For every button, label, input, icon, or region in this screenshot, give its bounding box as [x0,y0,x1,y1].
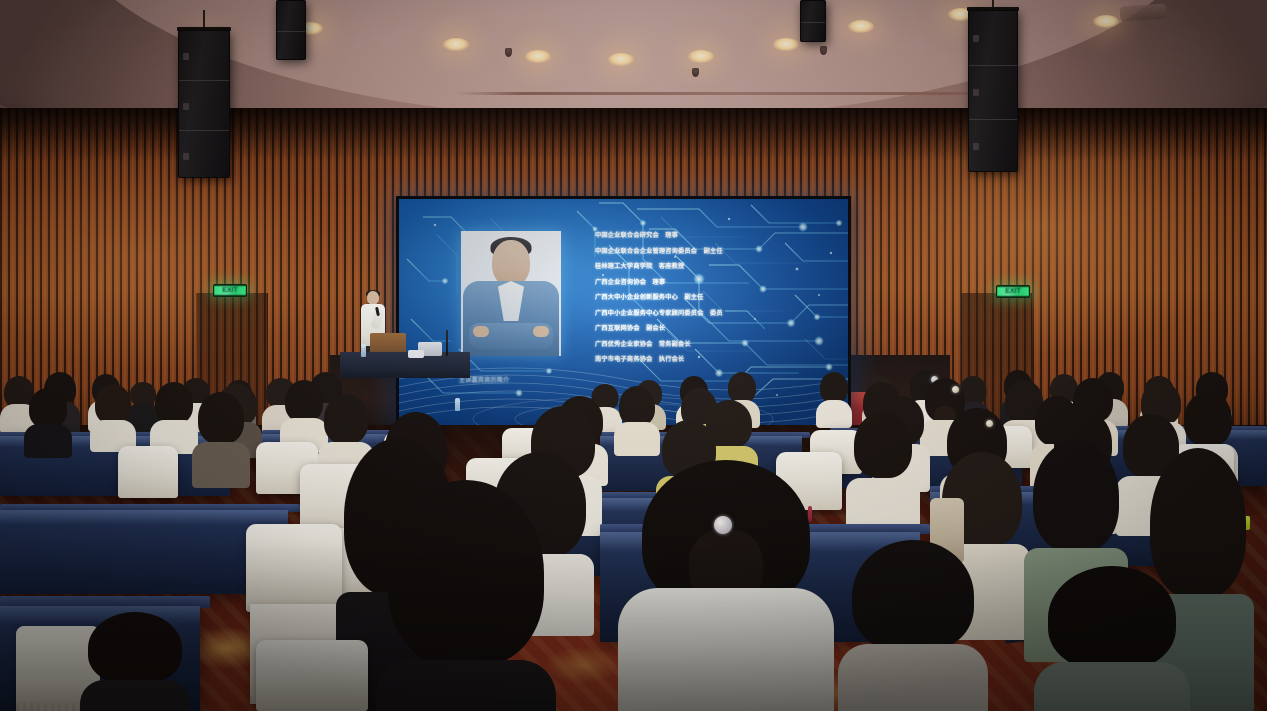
speaker-cabinet [276,0,306,60]
person-hair [95,384,131,424]
credential-line: 广西大中小企业创新服务中心 副主任 [595,293,845,303]
speaker-cabinet [178,30,230,178]
presenter-head [367,291,379,305]
microphone-stand-icon [446,330,448,356]
speaker-driver-icon [183,103,189,110]
person-torso [838,644,988,711]
person-torso [618,588,834,711]
speaker-seam [801,22,825,23]
exit-sign-label-left: EXIT [214,286,246,295]
person-torso [1034,662,1190,711]
person-hair [324,394,368,444]
person-torso [376,660,556,711]
person-hair [852,540,974,652]
person-hair [728,372,756,403]
credential-list: 中国企业联合会研究会 理事 中国企业联合会企业管理咨询委员会 副主任 桂林理工大… [595,231,845,371]
hair-clip-icon [986,420,993,427]
credential-org: 广西优秀企业家协会 [595,341,653,348]
speaker-seam [179,80,229,81]
credential-line: 桂林理工大学商学院 客座教授 [595,262,845,272]
audience-person-foreground [618,460,834,711]
audience-person [614,386,660,456]
hair-clip-icon [952,386,959,393]
audience-person-foreground [838,540,988,711]
credential-org: 桂林理工大学商学院 [595,263,653,270]
credential-line: 广西中小企业服务中心专家顾问委员会 委员 [595,309,845,319]
portrait-hand [473,326,489,337]
speaker-portrait-photo [461,231,561,356]
ceiling-downlight [443,38,469,51]
credential-role: 副会长 [646,325,665,332]
person-hair [854,412,912,478]
credential-role: 副主任 [704,248,723,255]
credential-org: 中国企业联合会企业管理咨询委员会 [595,248,697,255]
sprinkler-icon [692,68,699,77]
navy-table [0,510,288,594]
line-array-speaker-right-inner [800,0,826,42]
credential-role: 理事 [665,232,678,239]
portrait-hand [533,326,549,337]
speaker-cabinet [800,0,826,42]
banquet-chair[interactable] [246,524,342,612]
banquet-chair[interactable] [256,640,368,711]
document-stack [408,350,424,358]
exit-sign-right: EXIT [996,285,1030,298]
credential-role: 执行会长 [659,356,685,363]
person-hair [388,480,544,666]
audience-person [24,388,72,456]
credential-org: 广西中小企业服务中心专家顾问委员会 [595,310,704,317]
ceiling-downlight [773,38,799,51]
conference-hall-photo: EXIT EXIT [0,0,1267,711]
person-torso [24,424,72,458]
person-hair [619,386,655,426]
line-array-speaker-left-outer [178,10,230,178]
exit-sign-label-right: EXIT [997,287,1029,296]
portrait-head [492,240,530,286]
ceiling-downlight [688,50,714,63]
water-bottle-icon [455,398,460,411]
credential-org: 中国企业联合会研究会 [595,232,659,239]
person-torso [614,422,660,456]
person-torso [80,680,190,711]
banquet-chair[interactable] [118,446,178,498]
sprinkler-icon [505,48,512,57]
person-hair [29,388,67,428]
speaker-driver-icon [183,53,189,60]
credential-line: 中国企业联合会企业管理咨询委员会 副主任 [595,247,845,257]
audience-person [150,382,198,454]
audience-person [846,412,920,538]
ceiling-downlight [848,20,874,33]
speaker-seam [969,65,1017,66]
sprinkler-icon [820,46,827,55]
credential-line: 南宁市电子商务协会 执行会长 [595,355,845,365]
person-hair [88,612,182,684]
audience-person [90,384,136,452]
credential-role: 副主任 [684,294,703,301]
person-hair [1033,440,1119,552]
credential-role: 委员 [710,310,723,317]
credential-role: 理事 [652,279,665,286]
person-hair [155,382,193,424]
line-array-speaker-left-inner [276,0,306,60]
credential-org: 南宁市电子商务协会 [595,356,653,363]
person-hair [198,392,244,444]
ceiling-downlight [1093,15,1119,28]
hair-clip-icon [714,516,732,534]
ceiling-vent-icon [1120,3,1167,21]
person-hair [820,372,848,403]
credential-line: 广西企业咨询协会 理事 [595,278,845,288]
speaker-seam [179,130,229,131]
credential-line: 广西互联网协会 副会长 [595,324,845,334]
audience-person-foreground [376,480,556,711]
speaker-seam [277,31,305,32]
speaker-seam [969,119,1017,120]
credential-role: 客座教授 [659,263,685,270]
speaker-cabinet [968,10,1018,172]
speaker-driver-icon [973,35,979,42]
credential-line: 广西优秀企业家协会 常务副会长 [595,340,845,350]
water-bottle-icon [361,344,366,357]
line-array-speaker-right-outer [968,0,1018,172]
audience-person-foreground [1034,566,1190,711]
speaker-driver-icon [183,153,189,160]
ceiling-downlight [608,53,634,66]
credential-line: 中国企业联合会研究会 理事 [595,231,845,241]
person-hair [1184,392,1232,446]
head-table [340,352,470,378]
credential-org: 广西企业咨询协会 [595,279,646,286]
ceiling-rail [455,92,1015,95]
credential-role: 常务副会长 [659,341,691,348]
speaker-hanger [203,10,205,28]
audience-person-foreground [80,612,190,711]
audience-person [192,392,250,488]
exit-sign-left: EXIT [213,284,247,297]
ceiling-downlight [525,50,551,63]
credential-org: 广西互联网协会 [595,325,640,332]
person-torso [192,442,250,488]
person-hair [1048,566,1176,670]
credential-org: 广西大中小企业创新服务中心 [595,294,678,301]
speaker-driver-icon [973,89,979,96]
speaker-driver-icon [973,143,979,150]
